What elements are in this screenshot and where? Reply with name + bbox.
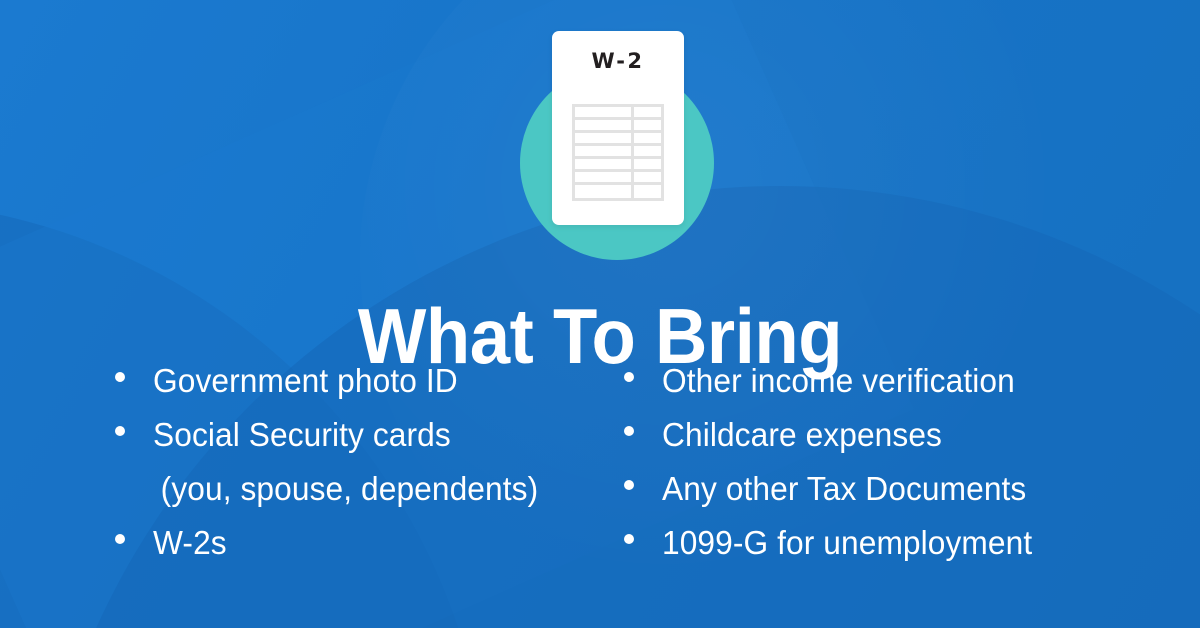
checklist-column-left: Government photo ID Social Security card… [0,354,610,570]
list-item-label: (you, spouse, dependents) [153,462,538,516]
list-item: Other income verification [624,354,1200,408]
list-item-label: W-2s [153,516,227,570]
checklist-column-right: Other income verification Childcare expe… [610,354,1200,570]
list-item: Childcare expenses [624,408,1200,462]
w2-table-row [575,146,661,159]
list-item-label: Government photo ID [153,354,458,408]
w2-table-cell [575,120,634,130]
list-item-label: Other income verification [662,354,1015,408]
list-item-label: Any other Tax Documents [662,462,1026,516]
w2-table-cell [575,159,634,169]
bullet-dot-icon [624,462,662,490]
bullet-dot-icon [115,408,153,436]
w2-table-row [575,159,661,172]
list-item: Government photo ID [115,354,610,408]
w2-table-cell [575,146,634,156]
list-item-continuation: (you, spouse, dependents) [115,462,610,516]
w2-table-row [575,133,661,146]
checklist-columns: Government photo ID Social Security card… [0,354,1200,570]
list-item: Social Security cards [115,408,610,462]
w2-table-cell [575,107,634,117]
w2-table [572,104,664,201]
w2-table-cell [634,133,661,143]
w2-table-cell [634,185,661,198]
w2-table-cell [575,185,634,198]
bullet-dot-icon [115,516,153,544]
list-item: 1099-G for unemployment [624,516,1200,570]
w2-table-row [575,120,661,133]
w2-table-row [575,185,661,198]
w2-table-cell [575,133,634,143]
w2-table-row [575,107,661,120]
list-item-label: 1099-G for unemployment [662,516,1032,570]
list-item-label: Social Security cards [153,408,451,462]
list-item: Any other Tax Documents [624,462,1200,516]
bullet-dot-placeholder-icon [115,462,153,490]
bullet-dot-icon [624,408,662,436]
list-item: W-2s [115,516,610,570]
w2-document-icon: W-2 [552,31,684,225]
hero-icon: W-2 [0,0,1200,236]
bullet-dot-icon [624,516,662,544]
w2-table-cell [634,146,661,156]
list-item-label: Childcare expenses [662,408,942,462]
w2-table-cell [634,107,661,117]
w2-table-cell [634,120,661,130]
w2-table-cell [634,172,661,182]
w2-document-label: W-2 [552,49,684,73]
w2-table-row [575,172,661,185]
bullet-dot-icon [115,354,153,382]
bullet-dot-icon [624,354,662,382]
w2-table-cell [575,172,634,182]
w2-table-cell [634,159,661,169]
what-to-bring-poster: W-2 What To Bring Government photo ID So… [0,0,1200,628]
